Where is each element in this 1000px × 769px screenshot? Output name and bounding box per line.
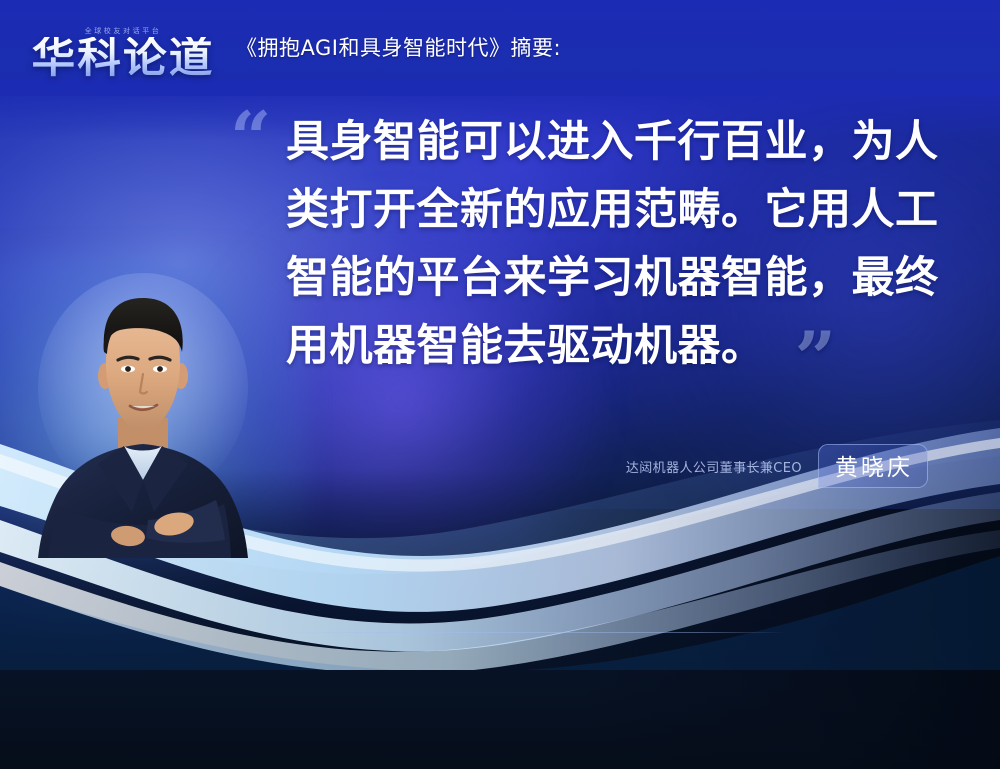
speaker-name-badge: 黄晓庆 bbox=[818, 444, 928, 488]
poster-root: 全球校友对话平台 华科论道 《拥抱AGI和具身智能时代》摘要: bbox=[0, 0, 1000, 769]
quote-block: “ 具身智能可以进入千行百业，为人 类打开全新的应用范畴。它用人工 智能的平台来… bbox=[236, 108, 948, 380]
quote-lines: 具身智能可以进入千行百业，为人 类打开全新的应用范畴。它用人工 智能的平台来学习… bbox=[286, 108, 948, 380]
quote-open-mark: “ bbox=[230, 112, 271, 164]
logo-wordmark: 华科论道 bbox=[31, 37, 214, 79]
quote-line-3: 智能的平台来学习机器智能，最终 bbox=[286, 244, 948, 312]
speaker-role: 达闼机器人公司董事长兼CEO bbox=[626, 457, 802, 476]
page-header: 全球校友对话平台 华科论道 《拥抱AGI和具身智能时代》摘要: bbox=[0, 0, 1000, 96]
speaker-portrait bbox=[28, 268, 258, 558]
brand-logo[interactable]: 全球校友对话平台 华科论道 bbox=[24, 17, 222, 79]
attribution: 达闼机器人公司董事长兼CEO 黄晓庆 bbox=[626, 444, 928, 488]
page-footer: 入群请咨询工作人员： 微信号 srh15029033920 (苏同学) 微信号 … bbox=[0, 634, 1000, 769]
quote-line-4-wrap: 用机器智能去驱动机器。 ” bbox=[286, 312, 765, 380]
quote-line-4: 用机器智能去驱动机器。 bbox=[286, 321, 765, 371]
footer-divider bbox=[285, 632, 785, 633]
page-title: 《拥抱AGI和具身智能时代》摘要: bbox=[236, 32, 561, 64]
quote-line-1: 具身智能可以进入千行百业，为人 bbox=[286, 108, 948, 176]
quote-close-mark: ” bbox=[795, 332, 837, 384]
quote-line-2: 类打开全新的应用范畴。它用人工 bbox=[286, 176, 948, 244]
